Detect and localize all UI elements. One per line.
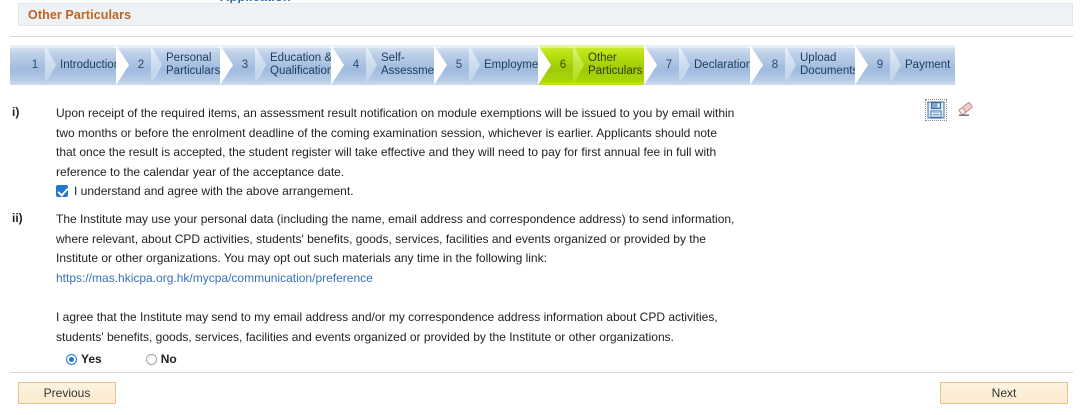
wizard-step-7[interactable]: 7Declarations bbox=[644, 45, 751, 85]
agreement-checkbox-row[interactable]: I understand and agree with the above ar… bbox=[56, 183, 736, 199]
section-header: Other Particulars bbox=[18, 3, 1073, 26]
clause-item-ii: ii) The Institute may use your personal … bbox=[0, 210, 1080, 366]
wizard-step-number: 4 bbox=[344, 59, 366, 71]
step-notch-icon bbox=[331, 45, 344, 85]
wizard-step-number: 1 bbox=[23, 59, 45, 71]
top-divider bbox=[10, 36, 1073, 37]
clause-marker-ii: ii) bbox=[0, 210, 56, 366]
wizard-step-2[interactable]: 2Personal Particulars bbox=[116, 45, 221, 85]
wizard-step-6[interactable]: 6Other Particulars bbox=[538, 45, 645, 85]
clause-marker-i: i) bbox=[0, 104, 56, 199]
clause-text-ii: The Institute may use your personal data… bbox=[56, 210, 736, 269]
consent-radio-no-input[interactable] bbox=[146, 354, 157, 365]
wizard-step-label: Other Particulars bbox=[584, 52, 650, 78]
wizard-step-number: 7 bbox=[657, 59, 679, 71]
chevron-right-icon bbox=[469, 45, 480, 85]
wizard-step-label: Personal Particulars bbox=[162, 52, 228, 78]
step-notch-icon bbox=[538, 45, 551, 85]
consent-radio-no-label: No bbox=[161, 352, 177, 366]
next-button[interactable]: Next bbox=[940, 382, 1068, 404]
consent-text: I agree that the Institute may send to m… bbox=[56, 308, 736, 347]
step-notch-icon bbox=[434, 45, 447, 85]
agreement-checkbox-label: I understand and agree with the above ar… bbox=[74, 183, 354, 199]
page-title: Other Particulars bbox=[19, 8, 131, 22]
consent-radio-group: Yes No bbox=[56, 352, 736, 366]
step-notch-icon bbox=[855, 45, 868, 85]
previous-button[interactable]: Previous bbox=[18, 382, 116, 404]
wizard-step-1[interactable]: 1Introduction bbox=[10, 45, 117, 85]
chevron-right-icon bbox=[573, 45, 584, 85]
chevron-right-icon bbox=[890, 45, 901, 85]
clause-item-i: i) Upon receipt of the required items, a… bbox=[0, 104, 1080, 199]
wizard-step-4[interactable]: 4Self- Assessment bbox=[331, 45, 435, 85]
wizard-step-3[interactable]: 3Education & Qualification bbox=[220, 45, 332, 85]
wizard-step-number: 2 bbox=[129, 59, 151, 71]
communication-preference-link[interactable]: https://mas.hkicpa.org.hk/mycpa/communic… bbox=[56, 271, 373, 285]
wizard-step-8[interactable]: 8Upload Documents bbox=[750, 45, 856, 85]
chevron-right-icon bbox=[785, 45, 796, 85]
chevron-right-icon bbox=[151, 45, 162, 85]
wizard-step-5[interactable]: 5Employment bbox=[434, 45, 539, 85]
clause-text-i: Upon receipt of the required items, an a… bbox=[56, 104, 736, 182]
wizard-step-number: 6 bbox=[551, 59, 573, 71]
consent-radio-no[interactable]: No bbox=[146, 352, 177, 366]
step-notch-icon bbox=[644, 45, 657, 85]
wizard-step-number: 3 bbox=[233, 59, 255, 71]
step-notch-icon bbox=[220, 45, 233, 85]
footer-divider bbox=[10, 372, 1073, 373]
chevron-right-icon bbox=[45, 45, 56, 85]
wizard-step-9[interactable]: 9Payment bbox=[855, 45, 955, 85]
chevron-right-icon bbox=[679, 45, 690, 85]
wizard-step-number: 9 bbox=[868, 59, 890, 71]
consent-radio-yes-input[interactable] bbox=[66, 354, 77, 365]
form-content: i) Upon receipt of the required items, a… bbox=[0, 104, 1080, 366]
chevron-right-icon bbox=[366, 45, 377, 85]
wizard-step-number: 5 bbox=[447, 59, 469, 71]
wizard-step-number: 8 bbox=[763, 59, 785, 71]
chevron-right-icon bbox=[255, 45, 266, 85]
agreement-checkbox[interactable] bbox=[56, 185, 68, 197]
wizard-step-label: Payment bbox=[901, 59, 958, 72]
step-notch-icon bbox=[750, 45, 763, 85]
wizard-step-bar: 1Introduction2Personal Particulars3Educa… bbox=[10, 45, 954, 85]
wizard-step-label: Education & Qualification bbox=[266, 52, 341, 78]
consent-radio-yes-label: Yes bbox=[81, 352, 102, 366]
consent-radio-yes[interactable]: Yes bbox=[66, 352, 102, 366]
step-notch-icon bbox=[116, 45, 129, 85]
